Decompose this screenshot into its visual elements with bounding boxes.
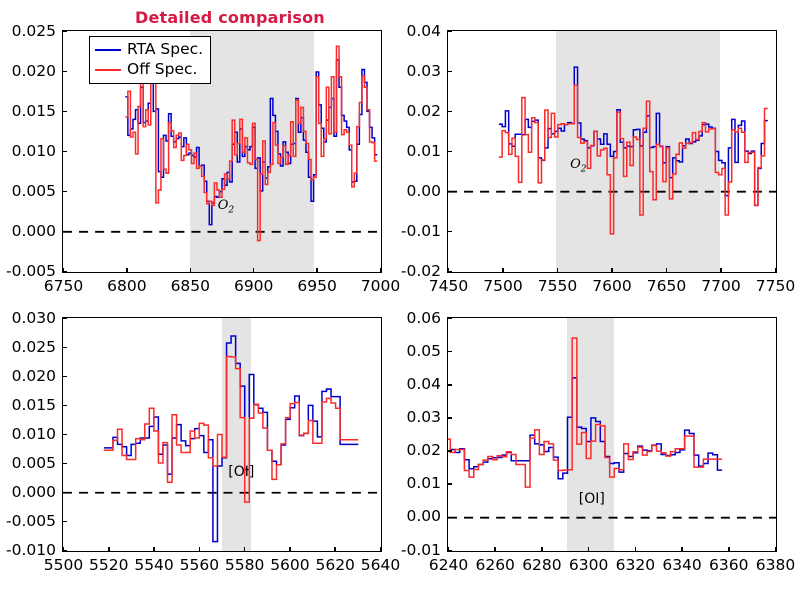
panel-bottom-right-series-rta-spec- (448, 378, 722, 479)
panel-bottom-right-ytick-mark (447, 450, 452, 452)
legend-label: Off Spec. (127, 62, 197, 78)
panel-bottom-right-xtick-mark (635, 547, 637, 552)
panel-bottom-right-xtick-mark (588, 547, 590, 552)
panel-bottom-right-xtick-label: 6380 (746, 558, 800, 574)
panel-bottom-right: [OI]-0.010.000.010.020.030.040.050.06624… (0, 0, 800, 600)
panel-bottom-right-ytick-mark (447, 517, 452, 519)
panel-bottom-right-ytick-label: 0.05 (406, 344, 441, 360)
panel-bottom-right-xtick-mark (494, 547, 496, 552)
panel-bottom-right-ytick-label: 0.01 (406, 476, 441, 492)
panel-bottom-right-xtick-mark (775, 547, 777, 552)
panel-bottom-right-ytick-mark (447, 384, 452, 386)
legend-item-off-spec-[interactable]: Off Spec. (95, 60, 203, 80)
panel-bottom-right-line-annotation: [OI] (579, 492, 605, 506)
panel-bottom-right-xtick-mark (448, 547, 450, 552)
legend: RTA Spec.Off Spec. (89, 36, 211, 84)
panel-bottom-right-ytick-label: 0.04 (406, 377, 441, 393)
legend-label: RTA Spec. (127, 42, 203, 58)
panel-bottom-right-ytick-label: 0.00 (406, 509, 441, 525)
panel-bottom-right-xtick-mark (728, 547, 730, 552)
panel-bottom-right-xtick-mark (541, 547, 543, 552)
panel-bottom-right-ytick-mark (447, 318, 452, 320)
panel-bottom-right-data-layer (448, 318, 776, 551)
panel-bottom-right-ytick-label: 0.06 (406, 311, 441, 327)
panel-bottom-right-ytick-mark (447, 417, 452, 419)
legend-swatch-line (95, 49, 121, 51)
panel-bottom-right-xtick-mark (681, 547, 683, 552)
panel-bottom-right-ytick-label: 0.03 (406, 410, 441, 426)
panel-bottom-right-ytick-mark (447, 351, 452, 353)
legend-item-rta-spec-[interactable]: RTA Spec. (95, 40, 203, 60)
panel-bottom-right-plot-area: [OI] (447, 317, 777, 552)
panel-bottom-right-series-off-spec- (448, 338, 722, 487)
legend-swatch-line (95, 69, 121, 71)
panel-bottom-right-ytick-label: 0.02 (406, 443, 441, 459)
panel-bottom-right-ytick-mark (447, 483, 452, 485)
figure-canvas: Detailed comparison O2-0.0050.0000.0050.… (0, 0, 800, 600)
